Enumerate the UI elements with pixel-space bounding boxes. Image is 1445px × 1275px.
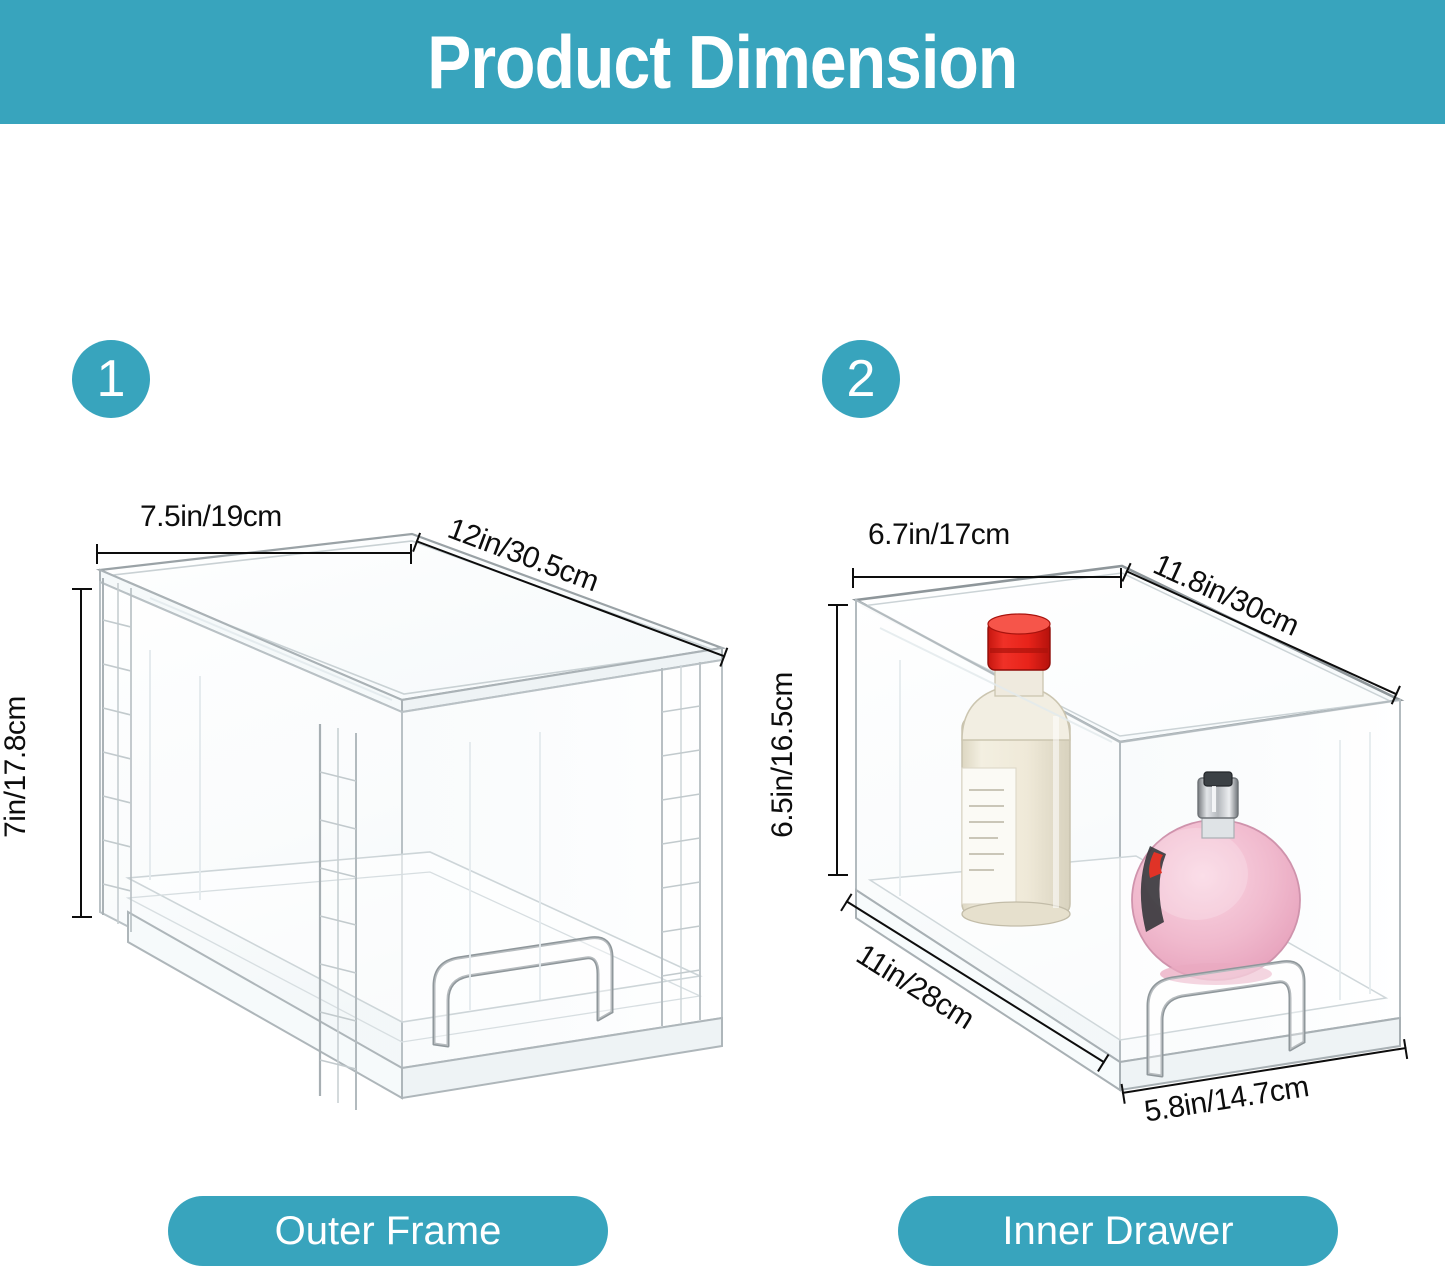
- dim-label-outer-depth: 12in/30.5cm: [443, 512, 603, 599]
- dim-label-outer-width: 7.5in/19cm: [140, 500, 282, 534]
- page-title: Product Dimension: [427, 25, 1017, 100]
- dim-line-inner-depth-top: [1126, 570, 1398, 695]
- dim-label-outer-height: 7in/17.8cm: [0, 696, 33, 838]
- dim-label-inner-height: 6.5in/16.5cm: [766, 672, 800, 838]
- perfume-bottle: [1132, 772, 1300, 985]
- caption-inner-drawer: Inner Drawer: [898, 1196, 1338, 1266]
- header-banner: Product Dimension: [0, 0, 1445, 124]
- step-badge-2: 2: [822, 340, 900, 418]
- lotion-bottle: [962, 614, 1070, 926]
- dim-label-inner-width-top: 6.7in/17cm: [868, 518, 1010, 552]
- step-badge-1-number: 1: [97, 353, 126, 405]
- caption-inner-drawer-label: Inner Drawer: [1002, 1209, 1233, 1254]
- dim-line-inner-width-top: [852, 576, 1122, 578]
- dim-line-inner-height: [836, 604, 838, 876]
- dim-line-outer-height: [80, 588, 82, 918]
- dim-label-inner-depth-bottom: 11in/28cm: [850, 938, 980, 1037]
- caption-outer-frame-label: Outer Frame: [275, 1209, 502, 1254]
- step-badge-1: 1: [72, 340, 150, 418]
- step-badge-2-number: 2: [847, 353, 876, 405]
- caption-outer-frame: Outer Frame: [168, 1196, 608, 1266]
- dim-line-outer-width: [96, 552, 412, 554]
- dim-label-inner-depth-top: 11.8in/30cm: [1148, 548, 1304, 644]
- dim-label-inner-width-front: 5.8in/14.7cm: [1142, 1070, 1311, 1130]
